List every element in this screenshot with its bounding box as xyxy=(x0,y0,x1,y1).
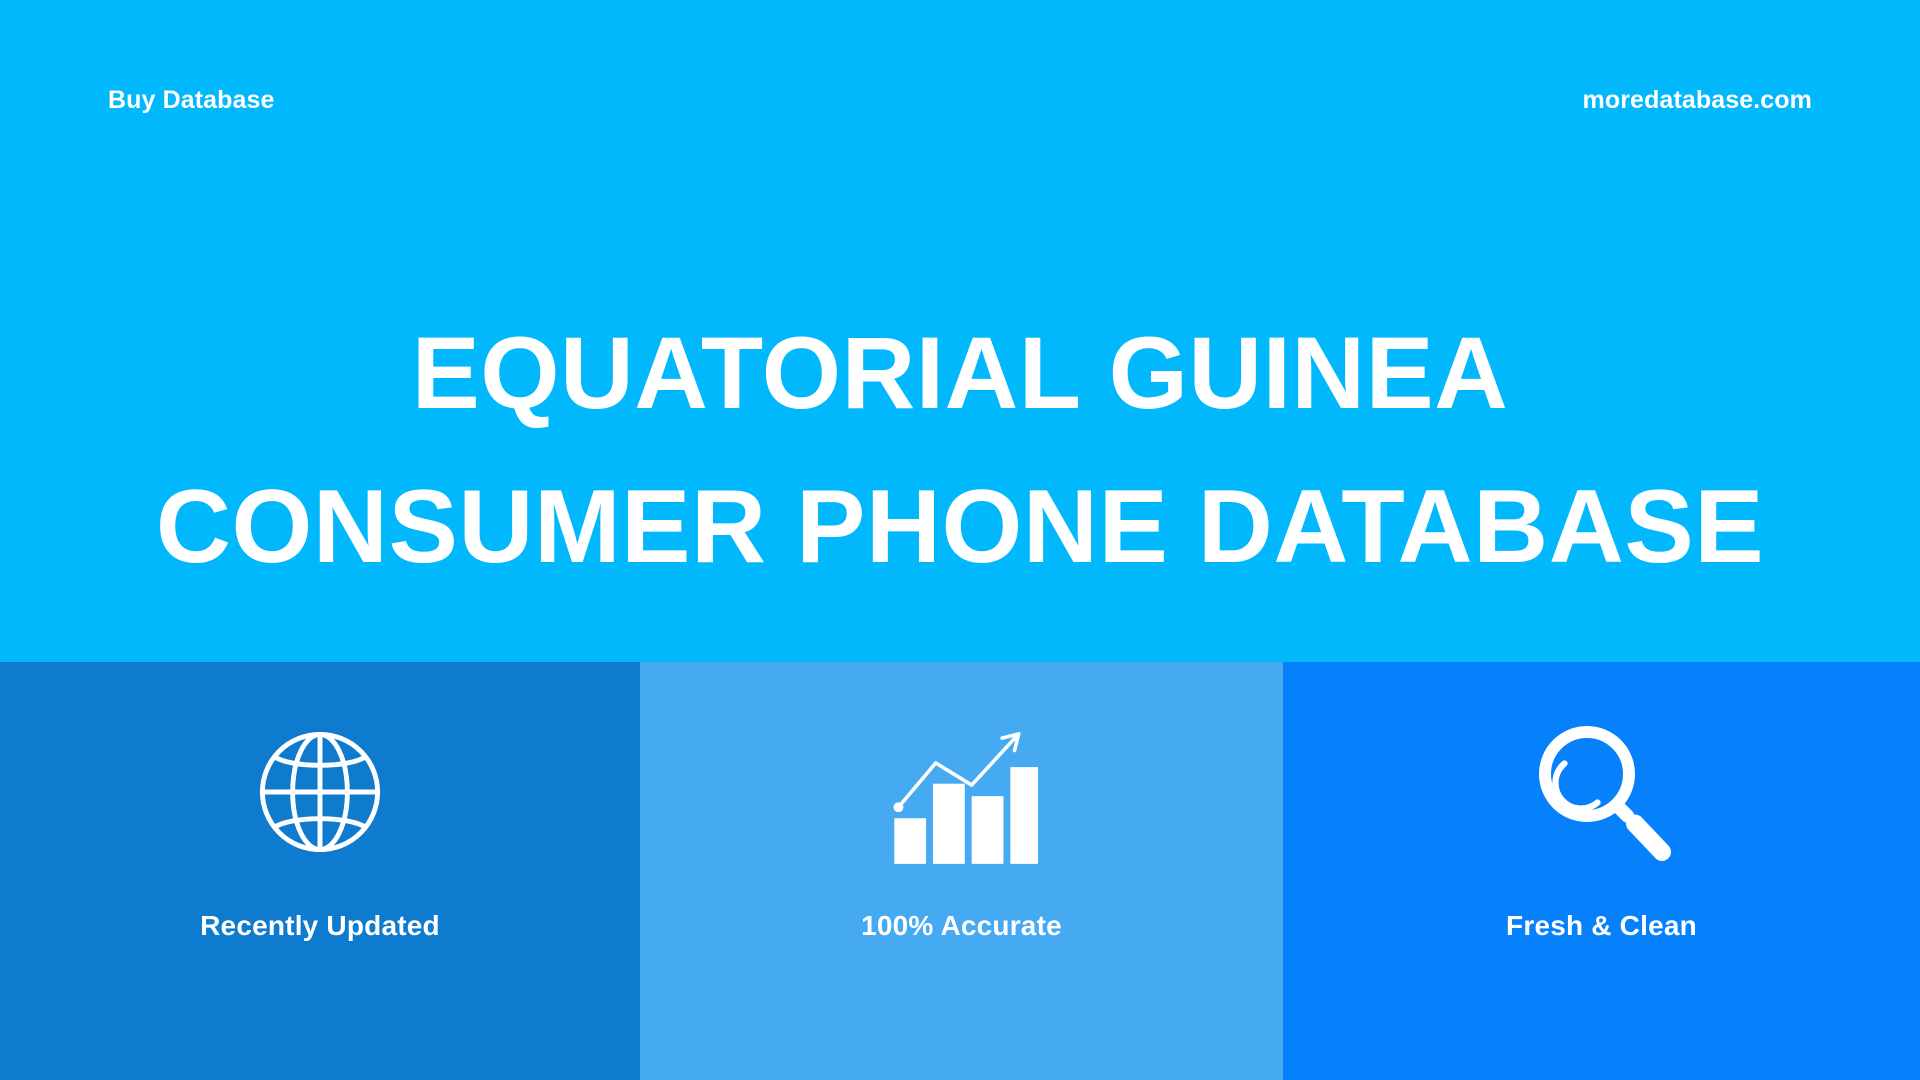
hero-section: Buy Database moredatabase.com EQUATORIAL… xyxy=(0,0,1920,662)
feature-panels: Recently Updated xyxy=(0,662,1920,1080)
page-title-line-1: EQUATORIAL GUINEA xyxy=(40,296,1880,450)
page-title-line-2: CONSUMER PHONE DATABASE xyxy=(40,450,1880,604)
feature-label-recently-updated: Recently Updated xyxy=(200,910,440,942)
feature-panel-recently-updated[interactable]: Recently Updated xyxy=(0,662,640,1080)
promo-banner: Buy Database moredatabase.com EQUATORIAL… xyxy=(0,0,1920,1080)
feature-label-accurate: 100% Accurate xyxy=(861,910,1062,942)
feature-panel-fresh-clean[interactable]: Fresh & Clean xyxy=(1283,662,1920,1080)
top-bar: Buy Database moredatabase.com xyxy=(0,0,1920,200)
feature-panel-accurate[interactable]: 100% Accurate xyxy=(640,662,1283,1080)
magnifier-icon xyxy=(1527,718,1677,866)
globe-icon xyxy=(248,718,392,866)
growth-bar-chart-icon xyxy=(886,718,1038,866)
site-url-label[interactable]: moredatabase.com xyxy=(1583,86,1812,115)
brand-label[interactable]: Buy Database xyxy=(108,86,275,115)
feature-label-fresh-clean: Fresh & Clean xyxy=(1506,910,1697,942)
page-title: EQUATORIAL GUINEA CONSUMER PHONE DATABAS… xyxy=(0,296,1920,604)
